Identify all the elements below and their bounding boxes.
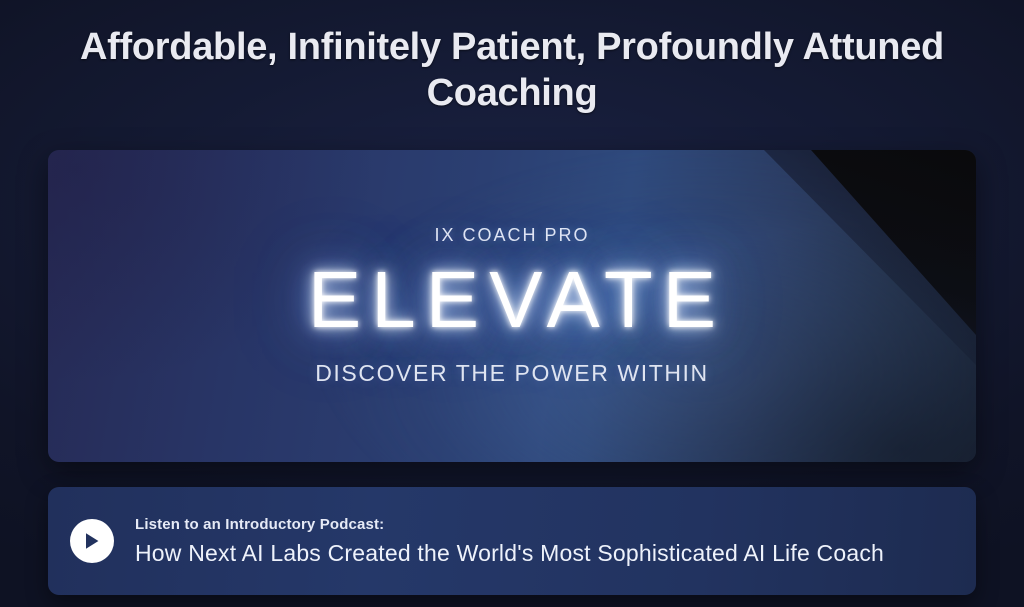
- page-title: Affordable, Infinitely Patient, Profound…: [37, 24, 987, 116]
- podcast-text-block: Listen to an Introductory Podcast: How N…: [135, 516, 884, 567]
- hero-card: IX COACH PRO ELEVATE DISCOVER THE POWER …: [48, 150, 976, 462]
- podcast-banner[interactable]: Listen to an Introductory Podcast: How N…: [48, 487, 976, 595]
- play-icon[interactable]: [70, 519, 114, 563]
- podcast-label: Listen to an Introductory Podcast:: [135, 516, 884, 533]
- hero-eyebrow: IX COACH PRO: [434, 225, 589, 246]
- hero-tagline: DISCOVER THE POWER WITHIN: [315, 360, 709, 387]
- hero-wordmark: ELEVATE: [298, 260, 726, 340]
- hero-content: IX COACH PRO ELEVATE DISCOVER THE POWER …: [48, 150, 976, 462]
- landing-page: Affordable, Infinitely Patient, Profound…: [0, 0, 1024, 607]
- podcast-title[interactable]: How Next AI Labs Created the World's Mos…: [135, 540, 884, 567]
